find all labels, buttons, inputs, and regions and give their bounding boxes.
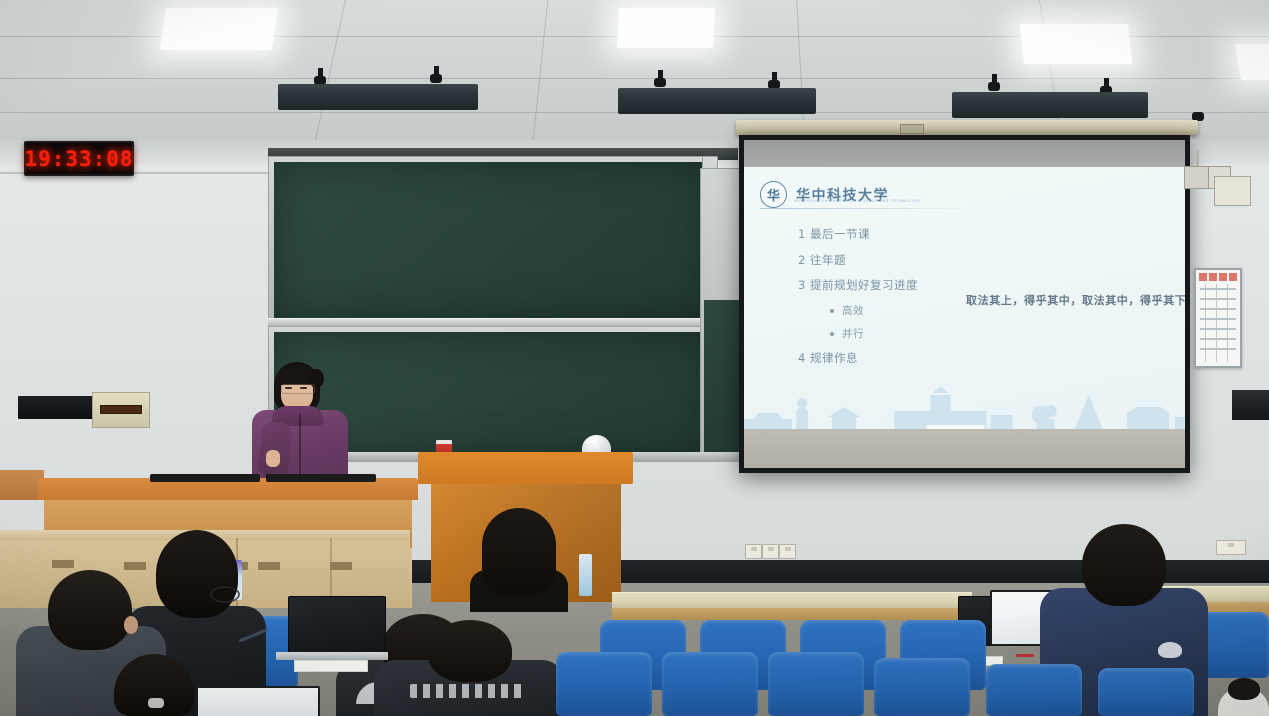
student-head bbox=[1082, 524, 1166, 606]
ceiling-panel-light bbox=[617, 8, 715, 48]
student-far-right bbox=[1218, 678, 1269, 716]
ceiling-panel-light bbox=[160, 8, 279, 50]
ceiling-panel-light bbox=[1235, 44, 1269, 80]
light-knob bbox=[430, 74, 442, 83]
desk-monitor-recess bbox=[150, 474, 260, 482]
classroom-photo: 19:33:08 华 华中科技大学 HUAZHONG UNIVERSITY OF… bbox=[0, 0, 1269, 716]
student-head bbox=[1228, 678, 1260, 700]
water-bottle bbox=[579, 554, 592, 596]
poster-header bbox=[1199, 273, 1237, 281]
wall-socket[interactable] bbox=[745, 544, 762, 559]
chair[interactable] bbox=[986, 664, 1082, 716]
presenter-hoodie-zipper bbox=[299, 414, 301, 478]
clock-time-text: 19:33:08 bbox=[24, 147, 133, 171]
console-slot bbox=[52, 560, 74, 568]
hoodie-print bbox=[410, 684, 524, 698]
chair[interactable] bbox=[768, 652, 864, 716]
presenter-eye bbox=[300, 387, 307, 389]
desk-monitor-recess bbox=[266, 474, 376, 482]
list-item: 3 提前规划好复习进度 bbox=[798, 280, 918, 292]
laptop-bottom-left-screen[interactable] bbox=[196, 686, 320, 716]
wall-speaker-left bbox=[18, 392, 148, 426]
bullet-icon bbox=[830, 332, 834, 336]
ear bbox=[124, 616, 138, 634]
slide-logo-group: 华 华中科技大学 bbox=[760, 181, 889, 208]
slide-header-rule bbox=[760, 208, 985, 209]
lectern-top bbox=[418, 452, 633, 484]
presenter-eye bbox=[285, 387, 292, 389]
presenter-standing bbox=[244, 362, 356, 482]
university-seal-icon: 华 bbox=[760, 181, 787, 208]
console-slot bbox=[330, 562, 352, 570]
student-center bbox=[468, 508, 570, 608]
speaker-label-plate bbox=[100, 405, 142, 414]
list-item: 1 最后一节课 bbox=[798, 229, 918, 241]
screen-surface: 华 华中科技大学 HUAZHONG UNIVERSITY OF SCIENCE … bbox=[744, 140, 1185, 468]
slide-agenda-list: 1 最后一节课 2 往年题 3 提前规划好复习进度 高效 并行 4 规律作息 bbox=[798, 229, 918, 378]
chair[interactable] bbox=[662, 652, 758, 716]
hanging-light-fixture bbox=[618, 88, 816, 114]
light-knob bbox=[654, 78, 666, 87]
ceiling-panel-light bbox=[1020, 24, 1132, 64]
pen[interactable] bbox=[1016, 654, 1034, 657]
student-head bbox=[48, 570, 132, 650]
roller-badge bbox=[900, 124, 924, 134]
chair[interactable] bbox=[874, 658, 970, 716]
campus-skyline-graphic bbox=[744, 383, 1185, 429]
wall-socket[interactable] bbox=[1216, 540, 1246, 555]
list-sub-item-label: 并行 bbox=[842, 329, 864, 340]
student-center-2 bbox=[374, 620, 564, 716]
hanging-light-fixture bbox=[278, 84, 478, 110]
wall-switch-box[interactable] bbox=[1184, 166, 1209, 189]
projection-screen[interactable]: 华 华中科技大学 HUAZHONG UNIVERSITY OF SCIENCE … bbox=[739, 135, 1190, 473]
projector-screen-roller[interactable] bbox=[736, 120, 1198, 135]
paper-sheet bbox=[294, 660, 368, 672]
light-knob bbox=[988, 82, 1000, 91]
hair-clip bbox=[148, 698, 164, 708]
university-name-subtext: HUAZHONG UNIVERSITY OF SCIENCE AND TECHN… bbox=[794, 199, 921, 203]
digital-wall-clock: 19:33:08 bbox=[24, 141, 134, 176]
list-item: 2 往年题 bbox=[798, 255, 918, 267]
hanging-light-fixture bbox=[952, 92, 1148, 118]
list-sub-item-label: 高效 bbox=[842, 306, 864, 317]
glasses-icon bbox=[281, 384, 315, 394]
jacket-logo-icon bbox=[1158, 642, 1182, 658]
glasses-icon bbox=[210, 586, 240, 603]
wall-socket[interactable] bbox=[779, 544, 796, 559]
chair[interactable] bbox=[556, 652, 652, 716]
desk-row-mid-front bbox=[612, 608, 972, 620]
list-sub-item: 高效 bbox=[830, 306, 918, 317]
laptop-left-open[interactable] bbox=[288, 596, 386, 656]
student-head bbox=[428, 620, 512, 682]
chair[interactable] bbox=[1098, 668, 1194, 716]
laptop-left-base bbox=[276, 652, 388, 660]
list-item: 4 规律作息 bbox=[798, 353, 918, 365]
bullet-icon bbox=[830, 309, 834, 313]
speaker-grill bbox=[18, 396, 96, 419]
list-sub-item: 并行 bbox=[830, 329, 918, 340]
blackboard-panel-upper bbox=[274, 162, 710, 318]
student-head bbox=[156, 530, 238, 618]
wall-socket[interactable] bbox=[762, 544, 779, 559]
wall-notice-poster bbox=[1194, 268, 1242, 368]
wall-speaker-right bbox=[1232, 390, 1269, 420]
screen-bottom-band bbox=[744, 429, 1185, 468]
wall-junction-box bbox=[1214, 176, 1251, 206]
presenter-hand bbox=[266, 450, 280, 467]
screen-top-gray-band bbox=[744, 140, 1185, 167]
presentation-slide: 华 华中科技大学 HUAZHONG UNIVERSITY OF SCIENCE … bbox=[744, 167, 1185, 429]
student-bottom-left bbox=[96, 654, 212, 716]
student-long-hair bbox=[482, 508, 556, 596]
slide-quote-text: 取法其上，得乎其中，取法其中，得乎其下 bbox=[966, 292, 1180, 308]
